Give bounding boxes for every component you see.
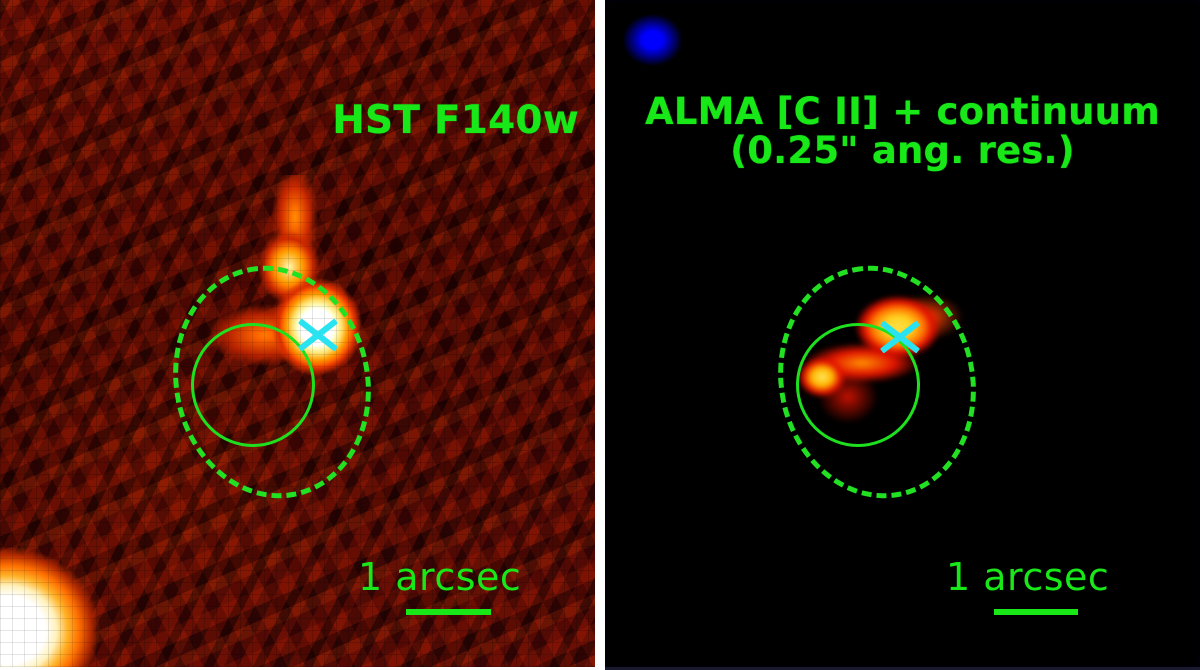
scalebar-line-hst	[406, 609, 491, 615]
scalebar-label-alma: 1 arcsec	[946, 558, 1109, 596]
scalebar-label-hst: 1 arcsec	[358, 558, 521, 596]
panel-hst: HST F140w 1 arcsec	[0, 0, 595, 667]
cross-marker-hst	[295, 312, 341, 358]
panel-title-alma: ALMA [C II] + continuum (0.25" ang. res.…	[605, 92, 1200, 170]
panel-title-hst: HST F140w	[332, 100, 579, 141]
two-panel-figure: HST F140w 1 arcsec ALMA [C II] + continu…	[0, 0, 1200, 667]
cross-marker-alma	[877, 314, 923, 360]
scalebar-line-alma	[994, 609, 1078, 615]
panel-divider	[595, 0, 605, 667]
hst-corner-source	[0, 530, 175, 667]
scalebar-hst: 1 arcsec	[358, 558, 521, 615]
scalebar-alma: 1 arcsec	[946, 558, 1109, 615]
